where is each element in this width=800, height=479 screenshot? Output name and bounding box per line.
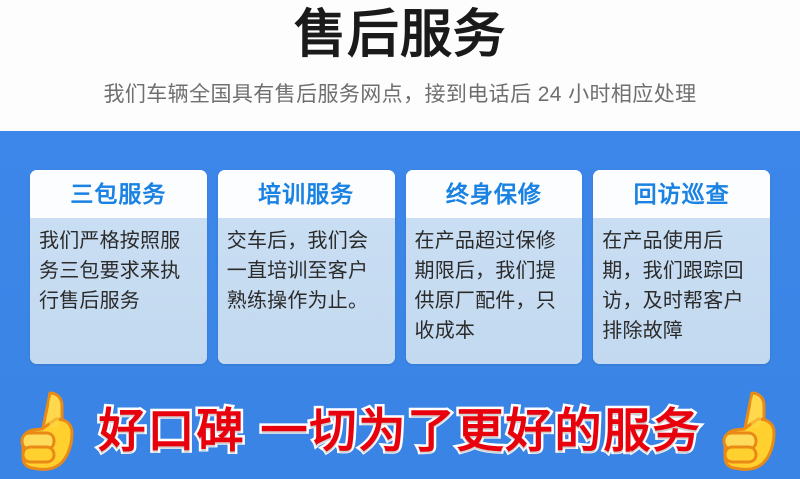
- service-card-body: 交车后，我们会一直培训至客户熟练操作为止。: [218, 218, 395, 364]
- service-card[interactable]: 三包服务 我们严格按照服务三包要求来执行售后服务: [30, 170, 207, 364]
- service-card-header: 培训服务: [218, 170, 395, 218]
- slogan-band: 好口碑 一切为了更好的服务: [0, 383, 800, 479]
- service-card-header: 终身保修: [406, 170, 583, 218]
- service-card-header: 回访巡查: [593, 170, 770, 218]
- service-card-description: 我们严格按照服务三包要求来执行售后服务: [39, 226, 198, 316]
- page-title: 售后服务: [0, 4, 800, 66]
- blue-content-panel: 三包服务 我们严格按照服务三包要求来执行售后服务 培训服务 交车后，我们会一直培…: [0, 131, 800, 479]
- service-card-body: 我们严格按照服务三包要求来执行售后服务: [30, 218, 207, 364]
- thumbs-up-icon: [16, 389, 82, 473]
- thumbs-up-icon: [718, 389, 784, 473]
- service-card-title: 培训服务: [258, 181, 354, 207]
- service-card-description: 在产品超过保修期限后，我们提供原厂配件，只收成本: [415, 226, 574, 346]
- page-subtitle: 我们车辆全国具有售后服务网点，接到电话后 24 小时相应处理: [0, 80, 800, 110]
- service-card-title: 回访巡查: [634, 181, 730, 207]
- service-card-description: 在产品使用后期，我们跟踪回访，及时帮客户排除故障: [602, 226, 761, 346]
- service-card-title: 终身保修: [446, 181, 542, 207]
- service-cards-row: 三包服务 我们严格按照服务三包要求来执行售后服务 培训服务 交车后，我们会一直培…: [30, 170, 770, 364]
- service-card[interactable]: 终身保修 在产品超过保修期限后，我们提供原厂配件，只收成本: [406, 170, 583, 364]
- slogan-text: 好口碑 一切为了更好的服务: [98, 402, 701, 460]
- service-card[interactable]: 培训服务 交车后，我们会一直培训至客户熟练操作为止。: [218, 170, 395, 364]
- service-card[interactable]: 回访巡查 在产品使用后期，我们跟踪回访，及时帮客户排除故障: [593, 170, 770, 364]
- service-card-body: 在产品超过保修期限后，我们提供原厂配件，只收成本: [406, 218, 583, 364]
- header-section: 售后服务 我们车辆全国具有售后服务网点，接到电话后 24 小时相应处理: [0, 0, 800, 131]
- service-card-title: 三包服务: [70, 181, 166, 207]
- service-card-description: 交车后，我们会一直培训至客户熟练操作为止。: [227, 226, 386, 316]
- service-card-header: 三包服务: [30, 170, 207, 218]
- service-card-body: 在产品使用后期，我们跟踪回访，及时帮客户排除故障: [593, 218, 770, 364]
- after-sales-service-infographic: 售后服务 我们车辆全国具有售后服务网点，接到电话后 24 小时相应处理 三包服务…: [0, 0, 800, 479]
